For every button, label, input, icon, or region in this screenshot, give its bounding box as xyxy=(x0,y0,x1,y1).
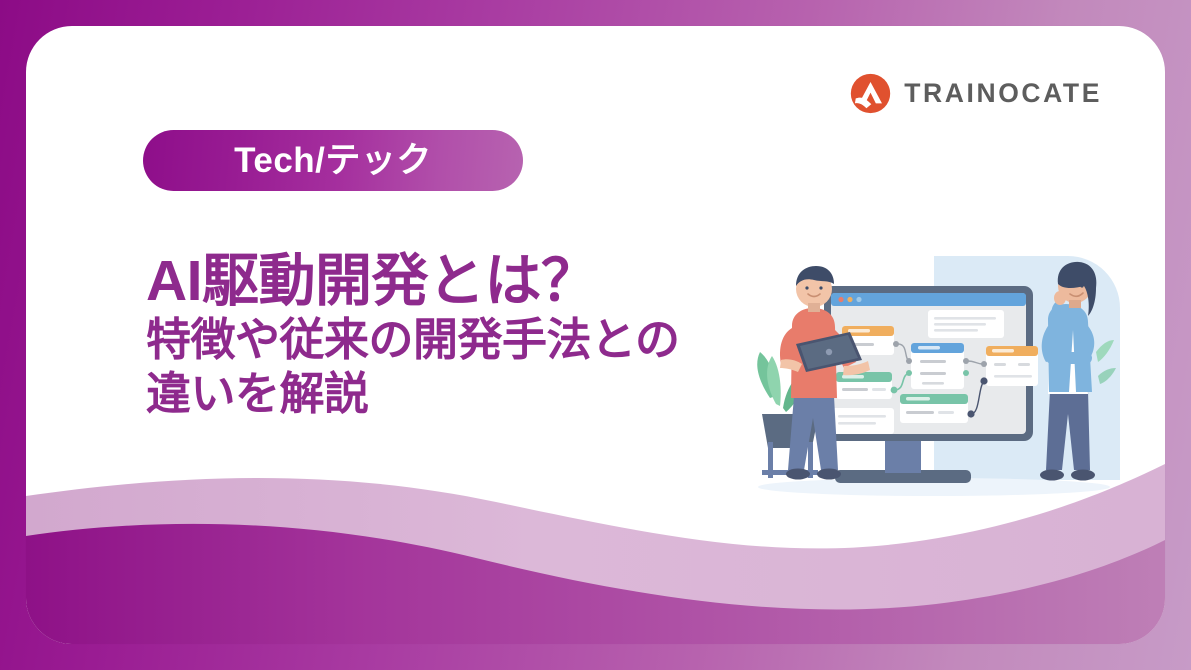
headline-block: AI駆動開発とは？ 特徴や従来の開発手法との 違いを解説 xyxy=(146,251,746,422)
headline-sub-line-2: 違いを解説 xyxy=(146,367,746,422)
headline-sub-line-1: 特徴や従来の開発手法との xyxy=(146,313,746,368)
category-badge[interactable]: Tech/テック xyxy=(143,130,523,191)
hero-illustration xyxy=(748,248,1120,513)
category-badge-label: Tech/テック xyxy=(234,143,432,178)
thumbnail-canvas: TRAINOCATE Tech/テック AI駆動開発とは？ 特徴や従来の開発手法… xyxy=(0,0,1191,670)
browser-dot-green xyxy=(856,297,861,302)
content-card: TRAINOCATE Tech/テック AI駆動開発とは？ 特徴や従来の開発手法… xyxy=(26,26,1165,644)
browser-dot-red xyxy=(838,297,843,302)
trainocate-circle-chevron-icon xyxy=(850,73,891,114)
brand-wordmark: TRAINOCATE xyxy=(904,80,1102,107)
headline-main-title: AI駆動開発とは？ xyxy=(146,251,746,313)
brand-logo: TRAINOCATE xyxy=(850,73,1102,114)
browser-dot-yellow xyxy=(847,297,852,302)
